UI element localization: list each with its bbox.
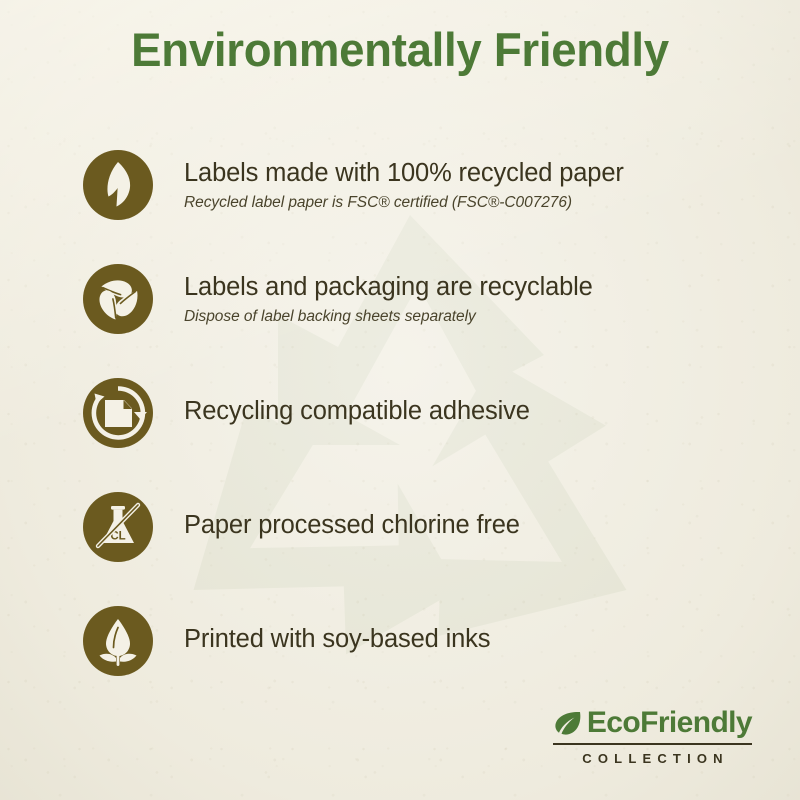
brand-leaf-icon bbox=[553, 708, 583, 738]
brand-name: EcoFriendly bbox=[587, 707, 752, 739]
brand-logo: EcoFriendly COLLECTION bbox=[553, 707, 752, 766]
feature-item-recycled-paper: Labels made with 100% recycled paper Rec… bbox=[82, 128, 722, 242]
brand-tagline: COLLECTION bbox=[553, 751, 752, 766]
document-recycle-icon bbox=[82, 377, 154, 449]
leaf-icon bbox=[82, 149, 154, 221]
eco-friendly-infographic: Environmentally Friendly Labels made wit… bbox=[0, 0, 800, 800]
feature-text: Labels made with 100% recycled paper Rec… bbox=[184, 158, 722, 212]
feature-text: Paper processed chlorine free bbox=[184, 510, 722, 545]
feature-title: Recycling compatible adhesive bbox=[184, 396, 722, 426]
feature-text: Recycling compatible adhesive bbox=[184, 396, 722, 431]
feature-title: Printed with soy-based inks bbox=[184, 624, 722, 654]
feature-subtitle: Dispose of label backing sheets separate… bbox=[184, 307, 722, 326]
feature-list: Labels made with 100% recycled paper Rec… bbox=[82, 128, 722, 698]
feature-title: Labels made with 100% recycled paper bbox=[184, 158, 722, 188]
feature-item-recyclable: Labels and packaging are recyclable Disp… bbox=[82, 242, 722, 356]
feature-item-soy-inks: Printed with soy-based inks bbox=[82, 584, 722, 698]
no-chlorine-flask-icon: CL bbox=[82, 491, 154, 563]
feature-title: Labels and packaging are recyclable bbox=[184, 272, 722, 302]
feature-item-chlorine-free: CL Paper processed chlorine free bbox=[82, 470, 722, 584]
page-title: Environmentally Friendly bbox=[12, 22, 788, 78]
feature-text: Printed with soy-based inks bbox=[184, 624, 722, 659]
recycling-leaves-icon bbox=[82, 263, 154, 335]
feature-subtitle: Recycled label paper is FSC® certified (… bbox=[184, 193, 722, 212]
feature-text: Labels and packaging are recyclable Disp… bbox=[184, 272, 722, 326]
brand-divider bbox=[553, 743, 752, 745]
feature-item-adhesive: Recycling compatible adhesive bbox=[82, 356, 722, 470]
brand-wordmark-row: EcoFriendly bbox=[553, 707, 752, 739]
soy-droplet-icon bbox=[82, 605, 154, 677]
feature-title: Paper processed chlorine free bbox=[184, 510, 722, 540]
